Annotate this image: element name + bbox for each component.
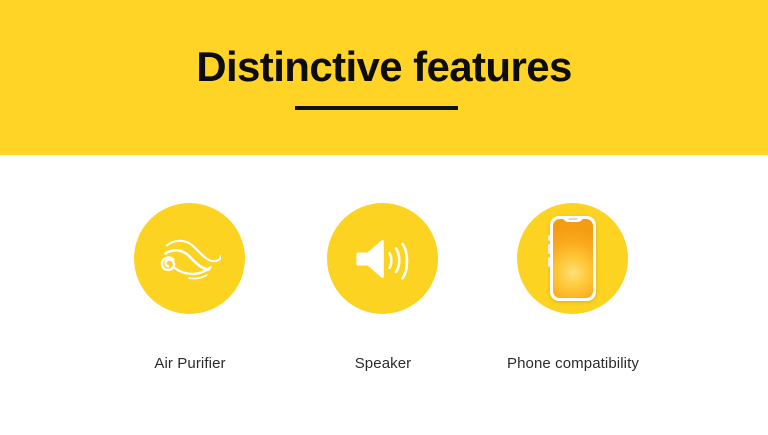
feature-label-speaker: Speaker — [283, 352, 483, 376]
wind-icon — [159, 237, 221, 281]
phone-side-button-volume-up — [548, 244, 550, 254]
feature-label-air-purifier: Air Purifier — [90, 352, 290, 376]
feature-item-air-purifier[interactable]: Air Purifier — [95, 155, 285, 435]
speaker-icon — [354, 237, 412, 281]
feature-row: Air Purifier Speaker — [0, 155, 768, 435]
phone-side-button-volume-down — [548, 257, 550, 267]
phone-earpiece — [568, 218, 577, 220]
slide-canvas: Distinctive features — [0, 0, 768, 435]
phone-screen — [553, 219, 593, 298]
feature-item-speaker[interactable]: Speaker — [288, 155, 478, 435]
phone-side-button-mute — [548, 235, 550, 241]
title-divider — [295, 106, 458, 110]
feature-label-phone-compatibility: Phone compatibility — [473, 352, 673, 376]
icon-circle-phone-compatibility — [517, 203, 628, 314]
header-band: Distinctive features — [0, 0, 768, 155]
page-title: Distinctive features — [0, 44, 768, 90]
icon-circle-speaker — [327, 203, 438, 314]
icon-circle-air-purifier — [134, 203, 245, 314]
feature-item-phone-compatibility[interactable]: Phone compatibility — [478, 155, 668, 435]
smartphone-icon — [550, 216, 596, 301]
